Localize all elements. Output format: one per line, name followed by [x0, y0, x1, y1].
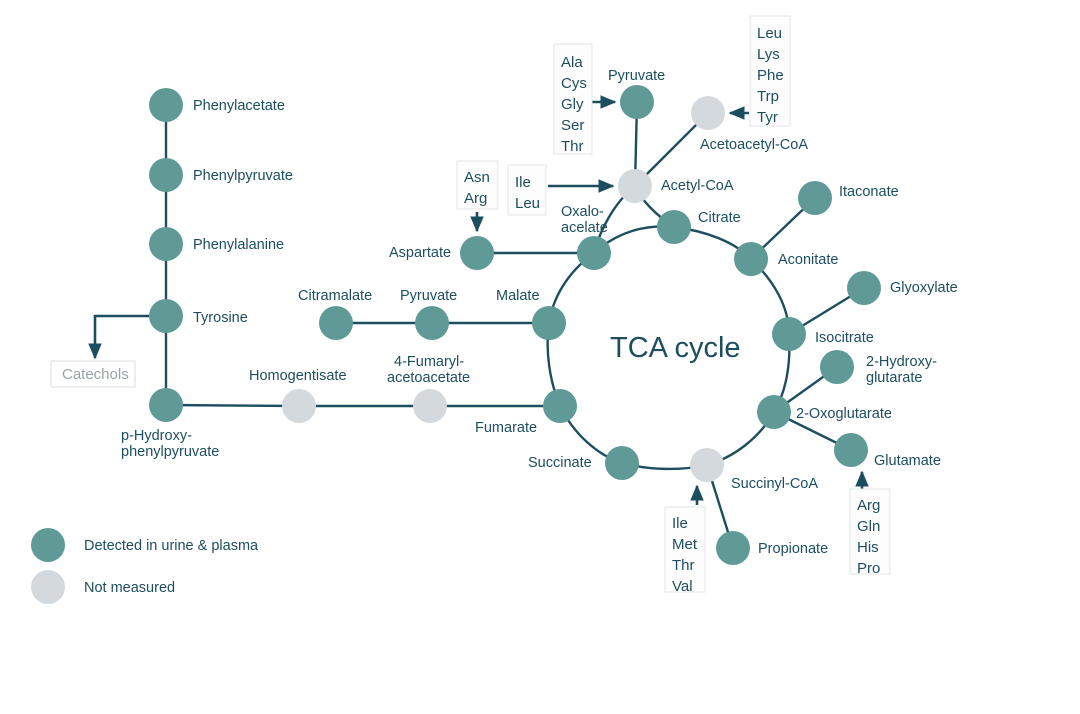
node-aspartate[interactable]: [460, 236, 494, 270]
legend-swatch-not-measured: [31, 570, 65, 604]
node-pyruvate-top[interactable]: [620, 85, 654, 119]
node-glutamate[interactable]: [834, 433, 868, 467]
his-label: His: [857, 539, 879, 556]
gln-label: Gln: [857, 518, 880, 535]
label-aconitate: Aconitate: [778, 252, 838, 268]
label-2-oxoglutarate: 2-Oxoglutarate: [796, 406, 892, 422]
node-aconitate[interactable]: [734, 242, 768, 276]
ile-label: Ile: [515, 174, 531, 191]
node-4-fumarylacetoacetate[interactable]: [413, 389, 447, 423]
val-label: Val: [672, 578, 693, 595]
lys-label: Lys: [757, 46, 780, 63]
node-acetyl-coa[interactable]: [618, 169, 652, 203]
label-isocitrate: Isocitrate: [815, 330, 874, 346]
node-succinyl-coa[interactable]: [690, 448, 724, 482]
label-propionate: Propionate: [758, 541, 828, 557]
ile-met-group-box: Ile Met Thr Val: [665, 507, 705, 595]
arg-label: Arg: [464, 190, 487, 207]
label-acetyl-coa: Acetyl-CoA: [661, 178, 734, 194]
node-phenylpyruvate[interactable]: [149, 158, 183, 192]
ala-label: Ala: [561, 54, 583, 71]
edge-phydroxy-homogentisate: [166, 405, 299, 406]
asn-label: Asn: [464, 169, 490, 186]
node-isocitrate[interactable]: [772, 317, 806, 351]
node-2-hydroxyglutarate[interactable]: [820, 350, 854, 384]
label-glutamate: Glutamate: [874, 453, 941, 469]
ile-leu-group-box: Ile Leu: [508, 165, 546, 215]
thr-label: Thr: [561, 138, 584, 155]
legend: Detected in urine & plasma Not measured: [31, 528, 259, 604]
node-itaconate[interactable]: [798, 181, 832, 215]
node-pyruvate-lower[interactable]: [415, 306, 449, 340]
label-pyruvate-top: Pyruvate: [608, 68, 665, 84]
asn-group-box: Asn Arg: [457, 161, 498, 209]
legend-swatch-detected: [31, 528, 65, 562]
legend-label-detected: Detected in urine & plasma: [84, 538, 259, 554]
legend-label-not-measured: Not measured: [84, 580, 175, 596]
phe-label: Phe: [757, 67, 784, 84]
arg2-label: Arg: [857, 497, 880, 514]
node-fumarate[interactable]: [543, 389, 577, 423]
label-citramalate: Citramalate: [298, 288, 372, 304]
thr2-label: Thr: [672, 557, 695, 574]
label-4-fumarylacetoacetate-line2: acetoacetate: [387, 370, 470, 386]
gly-label: Gly: [561, 96, 584, 113]
node-p-hydroxyphenylpyruvate[interactable]: [149, 388, 183, 422]
label-homogentisate: Homogentisate: [249, 368, 347, 384]
label-fumarate: Fumarate: [475, 420, 537, 436]
label-aspartate: Aspartate: [389, 245, 451, 261]
ile2-label: Ile: [672, 515, 688, 532]
label-2-hydroxyglutarate-line1: 2-Hydroxy-: [866, 354, 937, 370]
label-phenylpyruvate: Phenylpyruvate: [193, 168, 293, 184]
node-phenylacetate[interactable]: [149, 88, 183, 122]
leu-label: Leu: [757, 25, 782, 42]
label-acetoacetyl-coa: Acetoacetyl-CoA: [700, 137, 808, 153]
label-succinate: Succinate: [528, 455, 592, 471]
label-2-hydroxyglutarate-line2: glutarate: [866, 370, 922, 386]
label-succinyl-coa: Succinyl-CoA: [731, 476, 818, 492]
tyr-label: Tyr: [757, 109, 778, 126]
nodes-group: [149, 85, 881, 565]
node-tyrosine[interactable]: [149, 299, 183, 333]
label-oxaloacetate-line2: acelate: [561, 220, 608, 236]
node-succinate[interactable]: [605, 446, 639, 480]
node-propionate[interactable]: [716, 531, 750, 565]
catechols-box: Catechols: [51, 361, 135, 387]
cycle-title: TCA cycle: [610, 332, 741, 364]
label-pyruvate-lower: Pyruvate: [400, 288, 457, 304]
node-homogentisate[interactable]: [282, 389, 316, 423]
leu-group-box: Leu Lys Phe Trp Tyr: [750, 16, 790, 126]
node-phenylalanine[interactable]: [149, 227, 183, 261]
arg-gln-group-box: Arg Gln His Pro: [850, 489, 890, 577]
node-2-oxoglutarate[interactable]: [757, 395, 791, 429]
cys-label: Cys: [561, 75, 587, 92]
node-citramalate[interactable]: [319, 306, 353, 340]
node-acetoacetyl-coa[interactable]: [691, 96, 725, 130]
node-oxaloacetate[interactable]: [577, 236, 611, 270]
leu2-label: Leu: [515, 195, 540, 212]
label-oxaloacetate-line1: Oxalo-: [561, 204, 604, 220]
node-glyoxylate[interactable]: [847, 271, 881, 305]
pro-label: Pro: [857, 560, 880, 577]
pathway-diagram: Catechols Ala Cys Gly Ser Thr Leu Lys Ph…: [0, 0, 1080, 714]
label-4-fumarylacetoacetate-line1: 4-Fumaryl-: [394, 354, 464, 370]
label-itaconate: Itaconate: [839, 184, 899, 200]
trp-label: Trp: [757, 88, 779, 105]
node-malate[interactable]: [532, 306, 566, 340]
label-phenylacetate: Phenylacetate: [193, 98, 285, 114]
node-citrate[interactable]: [657, 210, 691, 244]
ser-label: Ser: [561, 117, 584, 134]
met-label: Met: [672, 536, 698, 553]
catechols-label: Catechols: [62, 366, 129, 383]
label-glyoxylate: Glyoxylate: [890, 280, 958, 296]
metabolic-pathway-svg: Catechols Ala Cys Gly Ser Thr Leu Lys Ph…: [0, 0, 1080, 714]
ala-group-box: Ala Cys Gly Ser Thr: [554, 44, 592, 155]
label-citrate: Citrate: [698, 210, 741, 226]
label-p-hydroxyphenylpyruvate-line2: phenylpyruvate: [121, 444, 219, 460]
label-p-hydroxyphenylpyruvate-line1: p-Hydroxy-: [121, 428, 192, 444]
label-tyrosine: Tyrosine: [193, 310, 248, 326]
label-malate: Malate: [496, 288, 540, 304]
label-phenylalanine: Phenylalanine: [193, 237, 284, 253]
